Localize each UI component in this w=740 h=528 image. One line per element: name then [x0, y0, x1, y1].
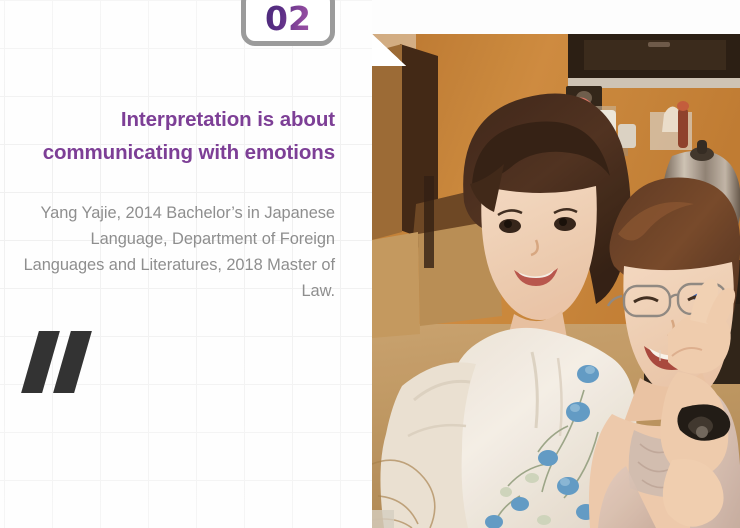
slide-number-badge: 02	[241, 0, 335, 46]
text-panel: 02 Interpretation is about communicating…	[0, 0, 372, 528]
photo-corner-notch	[372, 34, 406, 66]
slide-canvas: 02 Interpretation is about communicating…	[0, 0, 740, 528]
portrait-photo	[372, 34, 740, 528]
attribution-text: Yang Yajie, 2014 Bachelor’s in Japanese …	[14, 200, 335, 304]
quote-bar-right	[53, 331, 92, 393]
quote-bar-left	[21, 331, 60, 393]
quote-mark-icon	[24, 331, 94, 393]
headline: Interpretation is about communicating wi…	[30, 103, 335, 169]
slide-number-label: 02	[265, 2, 311, 35]
